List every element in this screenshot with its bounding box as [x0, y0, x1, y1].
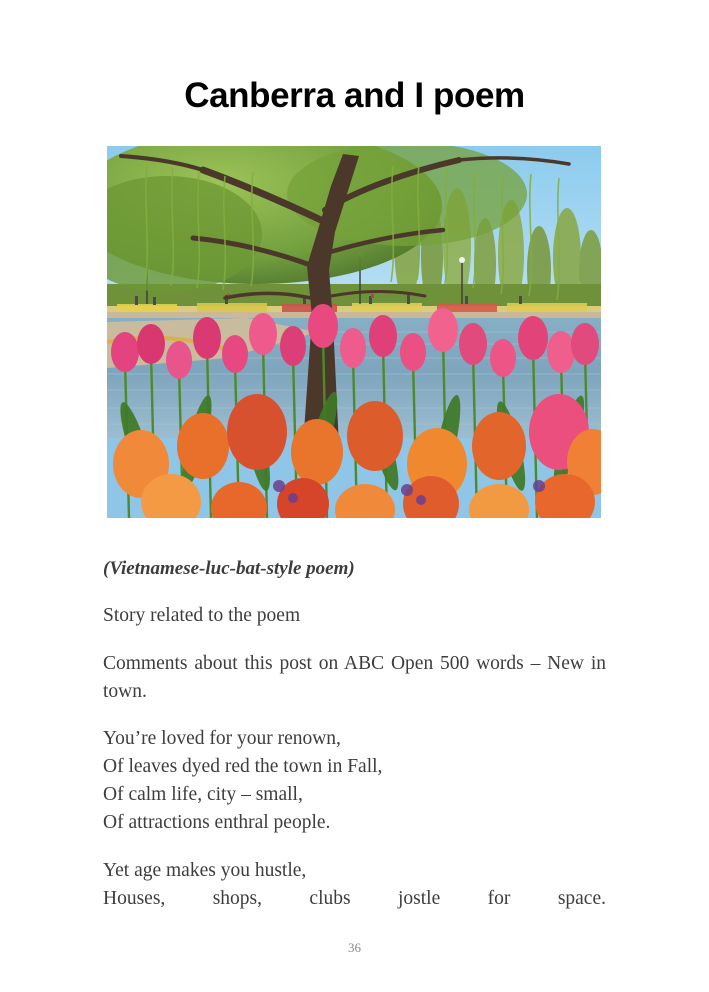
page-number: 36	[0, 940, 709, 956]
page-title: Canberra and I poem	[0, 78, 709, 113]
stanza-one-line-1: You’re loved for your renown,	[103, 725, 606, 753]
poem-subtitle: (Vietnamese-luc-bat-style poem)	[103, 556, 606, 582]
body-text-block: (Vietnamese-luc-bat-style poem) Story re…	[103, 556, 606, 941]
stanza-two: Yet age makes you hustle, Houses, shops,…	[103, 857, 606, 941]
stanza-one-line-3: Of calm life, city – small,	[103, 781, 606, 809]
stanza-one-line-4: Of attractions enthral people.	[103, 809, 606, 837]
stanza-two-line-2: Houses, shops, clubs jostle for space.	[103, 885, 606, 941]
canberra-lake-tulips-photo	[107, 146, 601, 518]
stanza-one: You’re loved for your renown, Of leaves …	[103, 725, 606, 837]
document-page: Canberra and I poem	[0, 0, 709, 992]
photo-illustration	[107, 146, 601, 518]
comments-line-1: Comments about this post on ABC Open 500…	[103, 653, 524, 674]
comments-paragraph: Comments about this post on ABC Open 500…	[103, 650, 606, 706]
stanza-two-line-1: Yet age makes you hustle,	[103, 857, 606, 885]
stanza-one-line-2: Of leaves dyed red the town in Fall,	[103, 753, 606, 781]
story-note: Story related to the poem	[103, 602, 606, 630]
